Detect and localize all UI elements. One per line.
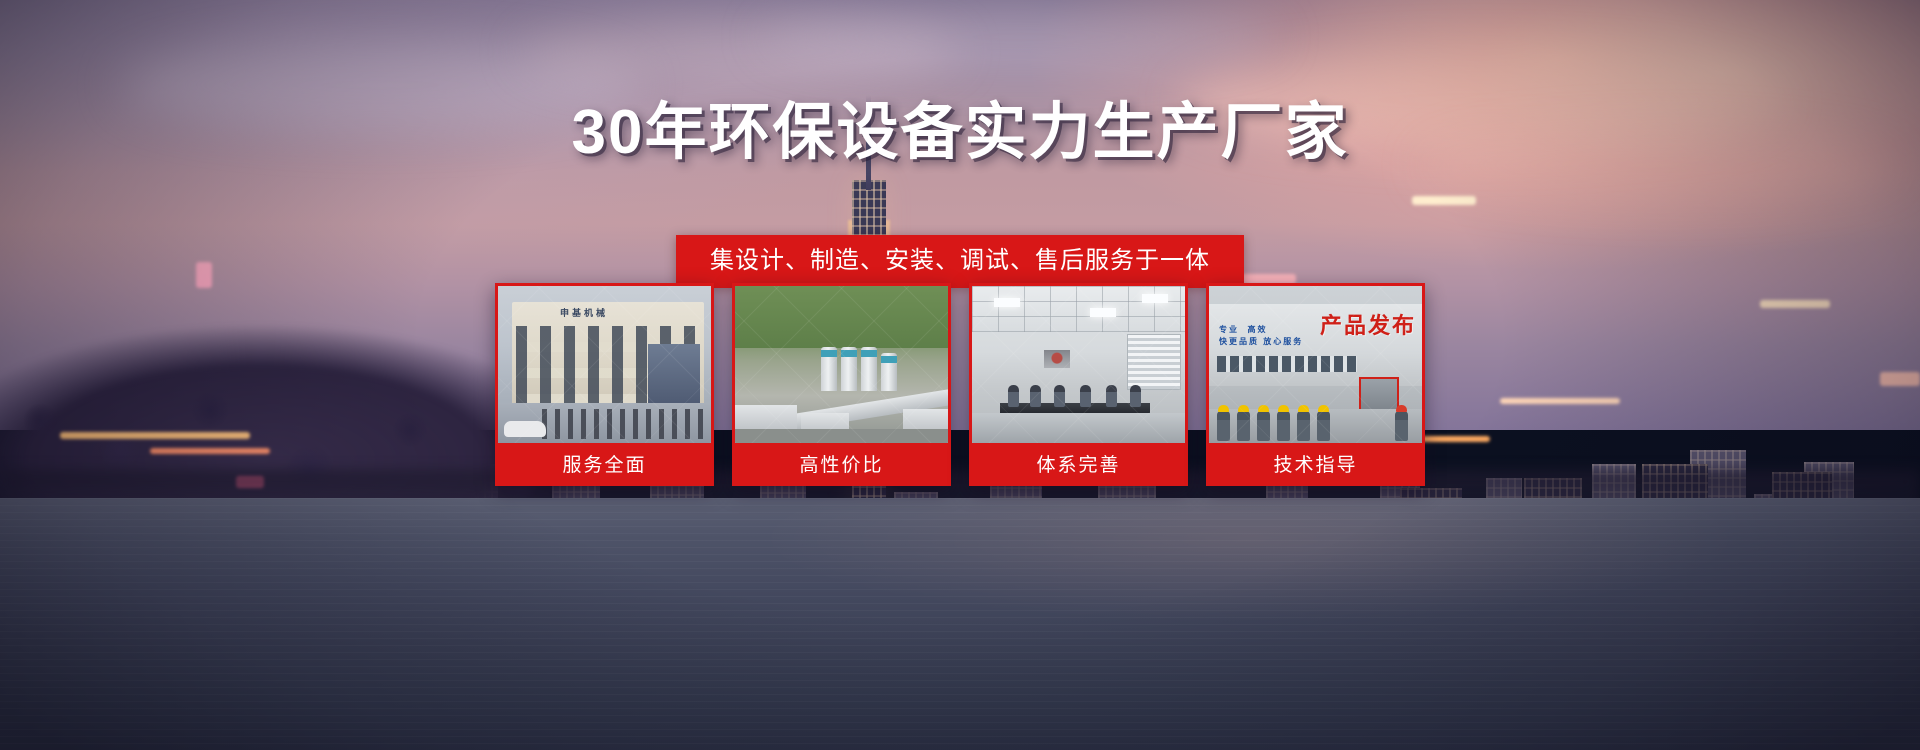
- feature-card-label: 技术指导: [1209, 443, 1422, 483]
- banner-content: 30年环保设备实力生产厂家 集设计、制造、安装、调试、售后服务于一体 申基机械: [0, 0, 1920, 750]
- feature-card-label: 体系完善: [972, 443, 1185, 483]
- factory-workers-photo: 产品发布 专业 高效快更品质 放心服务: [1209, 286, 1422, 443]
- white-car: [504, 421, 546, 437]
- wall-logo: [1044, 350, 1070, 368]
- feature-card-list: 申基机械 服务全面: [495, 283, 1425, 486]
- building-sign-text: 申基机械: [560, 306, 608, 319]
- factory-banner-text: 产品发布: [1320, 308, 1416, 340]
- feature-card-label: 服务全面: [498, 443, 711, 483]
- feature-card-value[interactable]: 高性价比: [732, 283, 951, 486]
- feature-card-label: 高性价比: [735, 443, 948, 483]
- office-interior-photo: [972, 286, 1185, 443]
- aerial-plant-photo: [735, 286, 948, 443]
- subtitle-badge: 集设计、制造、安装、调试、售后服务于一体: [676, 235, 1244, 288]
- feature-card-service[interactable]: 申基机械 服务全面: [495, 283, 714, 486]
- hero-banner: 30年环保设备实力生产厂家 集设计、制造、安装、调试、售后服务于一体 申基机械: [0, 0, 1920, 750]
- staff-lineup: [542, 409, 710, 439]
- company-office-building-photo: 申基机械: [498, 286, 711, 443]
- feature-card-guidance[interactable]: 产品发布 专业 高效快更品质 放心服务 技术指导: [1206, 283, 1425, 486]
- feature-card-system[interactable]: 体系完善: [969, 283, 1188, 486]
- page-title: 30年环保设备实力生产厂家: [0, 102, 1920, 164]
- factory-slogan-text: 专业 高效快更品质 放心服务: [1219, 324, 1303, 348]
